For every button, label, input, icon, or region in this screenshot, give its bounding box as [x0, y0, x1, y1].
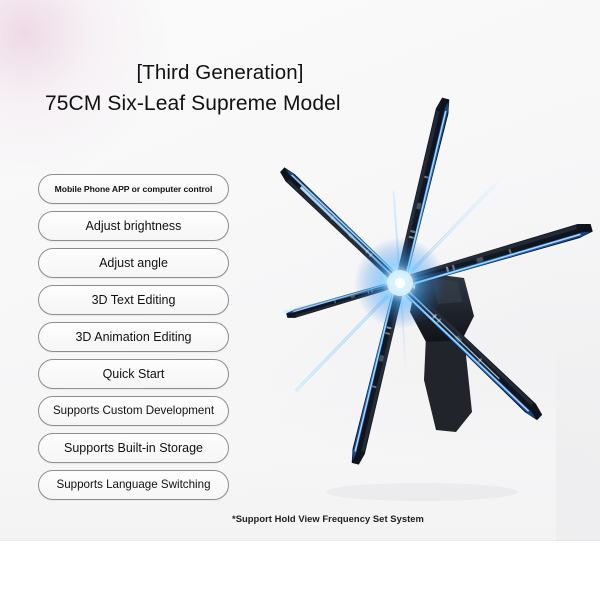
support-footnote: *Support Hold View Frequency Set System	[232, 513, 424, 524]
feature-pill[interactable]: Adjust brightness	[38, 211, 229, 241]
model-label: 75CM Six-Leaf Supreme Model	[40, 88, 400, 120]
product-banner: [Third Generation] 75CM Six-Leaf Supreme…	[0, 0, 600, 600]
feature-pill[interactable]: 3D Text Editing	[38, 285, 229, 315]
feature-list: Mobile Phone APP or computer control Adj…	[38, 174, 229, 507]
feature-pill[interactable]: Supports Custom Development	[38, 396, 229, 426]
feature-pill[interactable]: Supports Language Switching	[38, 470, 229, 500]
generation-label: [Third Generation]	[40, 58, 400, 88]
feature-pill[interactable]: Adjust angle	[38, 248, 229, 278]
feature-pill[interactable]: Mobile Phone APP or computer control	[38, 174, 229, 204]
feature-pill[interactable]: 3D Animation Editing	[38, 322, 229, 352]
page-title: [Third Generation] 75CM Six-Leaf Supreme…	[40, 58, 400, 120]
feature-pill[interactable]: Quick Start	[38, 359, 229, 389]
feature-pill[interactable]: Supports Built-in Storage	[38, 433, 229, 463]
